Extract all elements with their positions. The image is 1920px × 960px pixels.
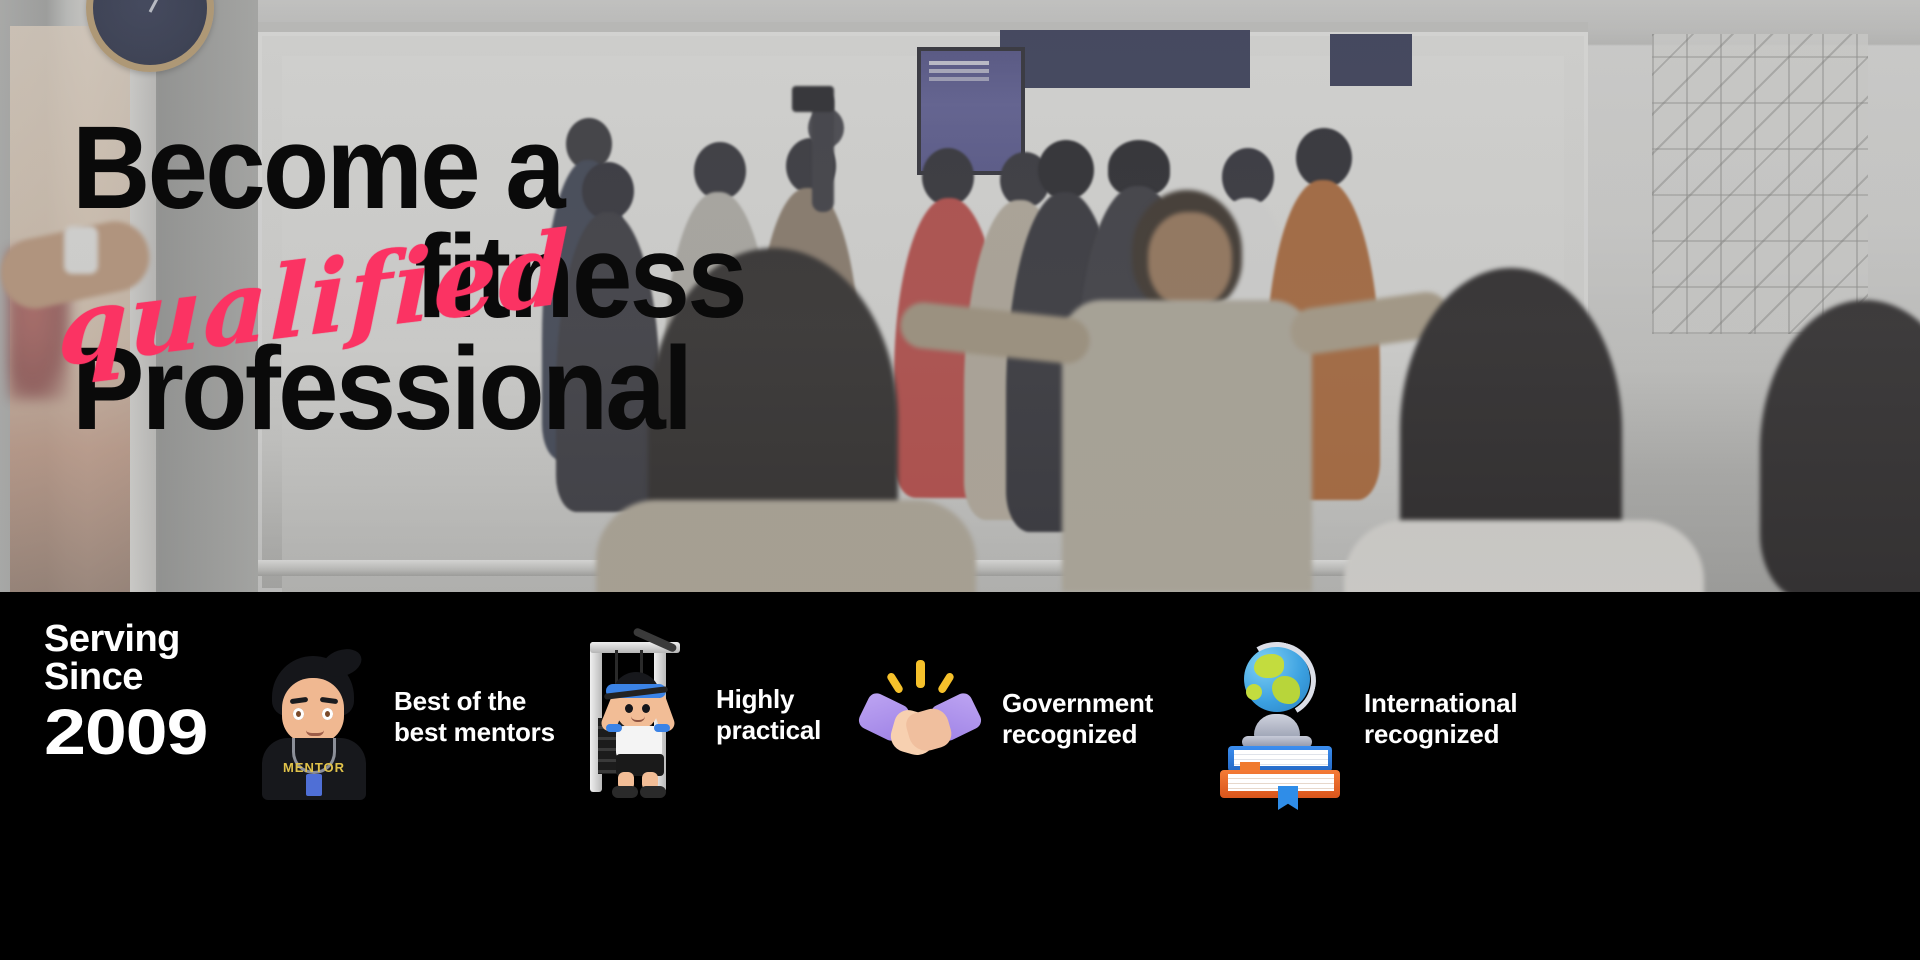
globe-on-books-icon [1218,636,1348,801]
feature-international-recognized[interactable]: International recognized [1218,636,1517,801]
mentor-avatar-icon: MENTOR [248,634,378,799]
camera-phone [792,86,834,112]
audience-shoulders-foreground [1344,520,1704,592]
feature-strip: Serving Since 2009 MENTOR Best of the be… [0,592,1920,960]
wall-navy-panel [1330,34,1412,86]
trainee-head [1038,140,1094,200]
feature-label-international-recognized: International recognized [1364,688,1517,748]
lat-pulldown-machine-icon [570,632,700,797]
serving-label-line-1: Serving [44,620,182,658]
feature-label-highly-practical: Highly practical [716,684,821,744]
trainer-face [1148,212,1232,308]
feature-label-best-mentors: Best of the best mentors [394,686,555,746]
feature-highly-practical[interactable]: Highly practical [570,632,821,797]
mentor-badge-text: MENTOR [278,760,350,775]
audience-shoulders-foreground [596,500,976,592]
serving-year: 2009 [44,700,207,764]
poster-title-lines [929,61,989,65]
wall-dark-band [1000,30,1250,88]
textured-logo-wall-overlay [1652,34,1868,334]
promo-banner: Become a fitness Professional qualified … [0,0,1920,960]
trainer-torso [1062,300,1312,592]
serving-since-block: Serving Since 2009 [44,620,182,764]
serving-label-line-2: Since [44,658,182,696]
trainee-head [1296,128,1352,188]
headline-line-1: Become a [72,118,771,219]
feature-government-recognized[interactable]: Government recognized [856,636,1153,801]
handshake-icon [856,636,986,801]
feature-best-mentors[interactable]: MENTOR Best of the best mentors [248,634,555,799]
feature-label-government-recognized: Government recognized [1002,688,1153,748]
